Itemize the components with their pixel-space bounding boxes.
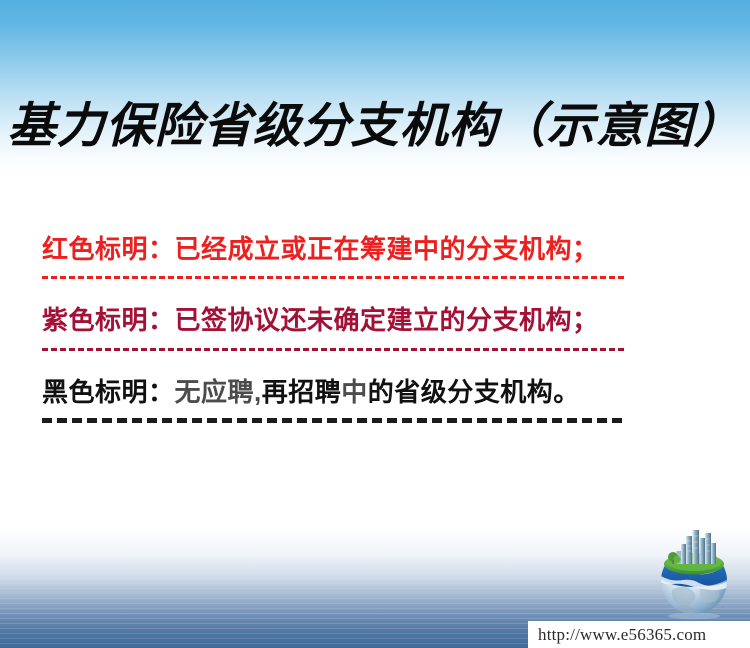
legend-row-red: 红色标明：已经成立或正在筹建中的分支机构； xyxy=(42,236,707,289)
legend-body-red: 已经成立或正在筹建中的分支机构； xyxy=(175,234,599,264)
legend-body-purple-1: 已签协议 xyxy=(175,305,281,335)
legend-body-black-3: 中 xyxy=(341,377,368,407)
slide-title: 基力保险省级分支机构（示意图） xyxy=(0,98,750,156)
city-skyline xyxy=(677,530,717,564)
globe-city-icon xyxy=(648,524,740,620)
slide-canvas: 基力保险省级分支机构（示意图） 红色标明：已经成立或正在筹建中的分支机构； 紫色… xyxy=(0,0,750,648)
legend-body-black-4: 的省级分支机构。 xyxy=(368,377,580,407)
legend-body-black-2: 再招聘 xyxy=(262,377,342,407)
legend-row-purple: 紫色标明：已签协议还未确定建立的分支机构； xyxy=(42,307,707,360)
legend-divider-purple xyxy=(42,339,707,361)
legend-lead-purple: 紫色标明： xyxy=(42,305,175,335)
legend-lead-black: 黑色标明： xyxy=(42,377,175,407)
globe-reflection xyxy=(668,613,720,619)
legend-divider-black xyxy=(42,410,707,432)
legend-body-purple-2: 还未确定建立的分支机构； xyxy=(281,305,599,335)
legend-text-purple: 紫色标明：已签协议还未确定建立的分支机构； xyxy=(42,307,707,334)
watermark-url-text: http://www.e56365.com xyxy=(528,625,706,645)
globe-city-logo xyxy=(648,524,740,620)
legend-block: 红色标明：已经成立或正在筹建中的分支机构； 紫色标明：已签协议还未确定建立的分支… xyxy=(42,236,707,432)
watermark-url-box: http://www.e56365.com xyxy=(528,621,750,648)
legend-lead-red: 红色标明： xyxy=(42,234,175,264)
legend-text-red: 红色标明：已经成立或正在筹建中的分支机构； xyxy=(42,236,707,263)
legend-body-black-1: 无应聘, xyxy=(175,377,262,407)
legend-row-black: 黑色标明：无应聘,再招聘中的省级分支机构。 xyxy=(42,379,707,432)
legend-divider-red xyxy=(42,267,707,289)
legend-text-black: 黑色标明：无应聘,再招聘中的省级分支机构。 xyxy=(42,379,707,406)
